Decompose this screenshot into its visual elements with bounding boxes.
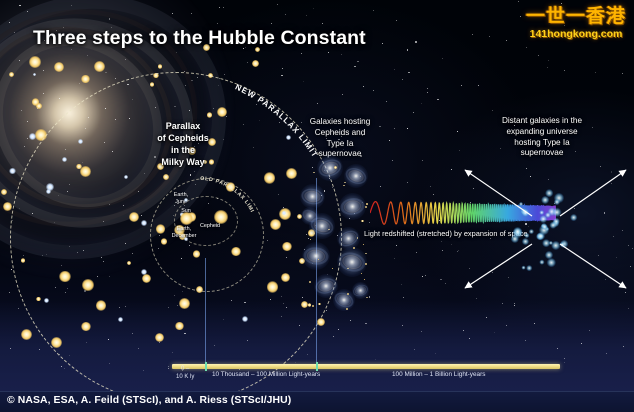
credit-bar: © NASA, ESA, A. Feild (STScI), and A. Ri… bbox=[0, 391, 634, 412]
scale-label-far: 100 Million – 1 Billion Light-years bbox=[392, 371, 485, 378]
expansion-arrows bbox=[456, 160, 632, 296]
scale-label-mid: 10 Thousand – 100 Million Light-years bbox=[212, 371, 320, 378]
scale-tick bbox=[316, 362, 318, 371]
arrow-down-left bbox=[465, 244, 532, 288]
arrow-up-left bbox=[465, 170, 532, 216]
arrow-up-right bbox=[560, 170, 626, 216]
distance-scale-bar bbox=[172, 364, 560, 369]
credit-text: © NASA, ESA, A. Feild (STScI), and A. Ri… bbox=[7, 395, 291, 406]
figure-canvas: NEW PARALLAX LIMIT OLD PARALLAX LIMIT Th… bbox=[0, 0, 634, 412]
scale-label-near: 0 – 10 K ly bbox=[176, 366, 194, 381]
scale-tick bbox=[205, 362, 207, 371]
arrow-down-right bbox=[560, 244, 626, 288]
